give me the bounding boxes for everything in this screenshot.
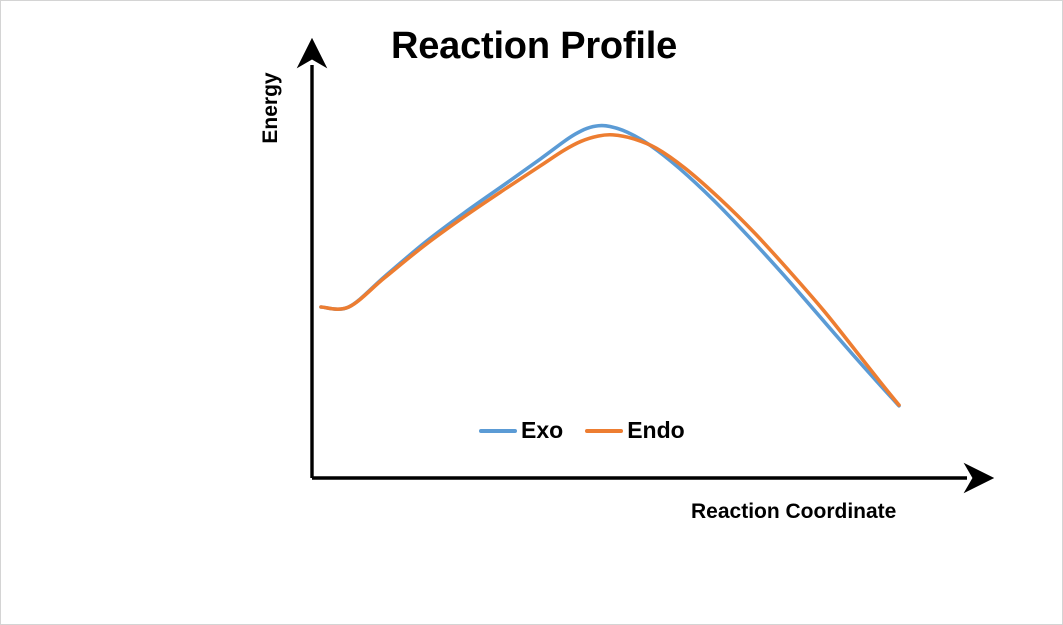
- chart-canvas: Reaction Profile Energy Reaction Coordin…: [0, 0, 1063, 625]
- legend-item-endo[interactable]: Endo: [585, 419, 685, 442]
- legend-swatch-endo: [585, 429, 623, 433]
- legend-swatch-exo: [479, 429, 517, 433]
- legend-label-endo: Endo: [627, 419, 685, 442]
- legend-item-exo[interactable]: Exo: [479, 419, 563, 442]
- x-axis-title: Reaction Coordinate: [691, 500, 896, 524]
- reaction-profile-plot: [1, 1, 1063, 625]
- series-line-endo: [321, 135, 899, 405]
- legend-label-exo: Exo: [521, 419, 563, 442]
- chart-title: Reaction Profile: [332, 25, 736, 68]
- y-axis-title: Energy: [259, 48, 283, 168]
- chart-legend: Exo Endo: [479, 419, 685, 442]
- series-line-exo: [321, 126, 899, 406]
